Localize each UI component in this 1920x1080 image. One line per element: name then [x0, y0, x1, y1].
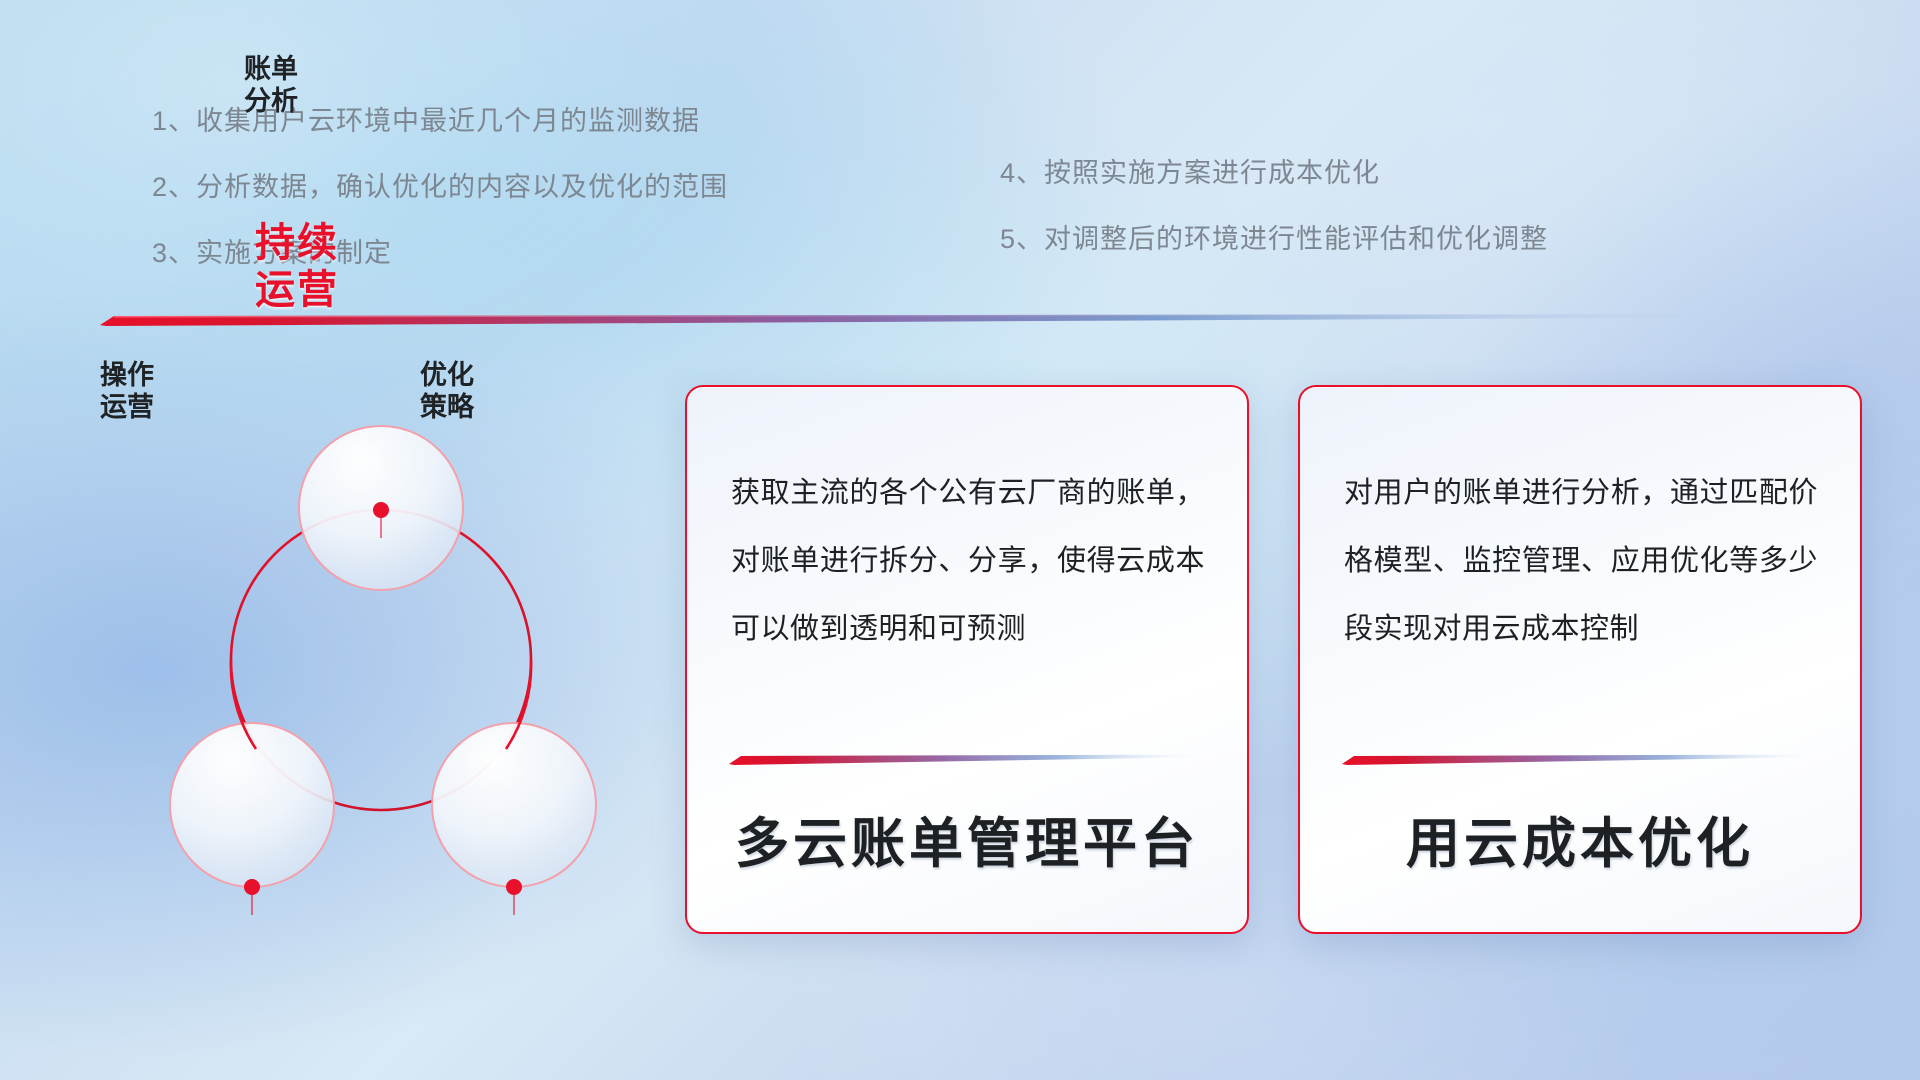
- venn-circle-strategy: [432, 723, 596, 887]
- card-body-text: 获取主流的各个公有云厂商的账单，对账单进行拆分、分享，使得云成本可以做到透明和可…: [731, 459, 1205, 663]
- venn-node-left: [244, 879, 260, 895]
- venn-circle-ops: [170, 723, 334, 887]
- step-item-1: 1、收集用户云环境中最近几个月的监测数据: [152, 108, 728, 135]
- steps-list-right: 4、按照实施方案进行成本优化 5、对调整后的环境进行性能评估和优化调整: [1000, 160, 1548, 292]
- venn-node-right: [506, 879, 522, 895]
- step-item-3: 3、实施方案的制定: [152, 240, 728, 267]
- venn-node-top: [373, 502, 389, 518]
- card-title: 多云账单管理平台: [687, 799, 1247, 878]
- info-card-cloud-cost-optimization[interactable]: 对用户的账单进行分析，通过匹配价格模型、监控管理、应用优化等多少段实现对用云成本…: [1298, 385, 1862, 934]
- card-accent-bar: [729, 753, 1209, 765]
- step-item-2: 2、分析数据，确认优化的内容以及优化的范围: [152, 174, 728, 201]
- step-item-4: 4、按照实施方案进行成本优化: [1000, 160, 1548, 187]
- card-accent-bar: [1342, 753, 1822, 765]
- info-card-multicloud-billing[interactable]: 获取主流的各个公有云厂商的账单，对账单进行拆分、分享，使得云成本可以做到透明和可…: [685, 385, 1249, 934]
- steps-list-left: 1、收集用户云环境中最近几个月的监测数据 2、分析数据，确认优化的内容以及优化的…: [152, 108, 728, 306]
- card-body-text: 对用户的账单进行分析，通过匹配价格模型、监控管理、应用优化等多少段实现对用云成本…: [1344, 459, 1818, 663]
- venn-diagram: [96, 340, 636, 940]
- section-divider: [100, 312, 1800, 326]
- step-item-5: 5、对调整后的环境进行性能评估和优化调整: [1000, 226, 1548, 253]
- card-title: 用云成本优化: [1300, 799, 1860, 878]
